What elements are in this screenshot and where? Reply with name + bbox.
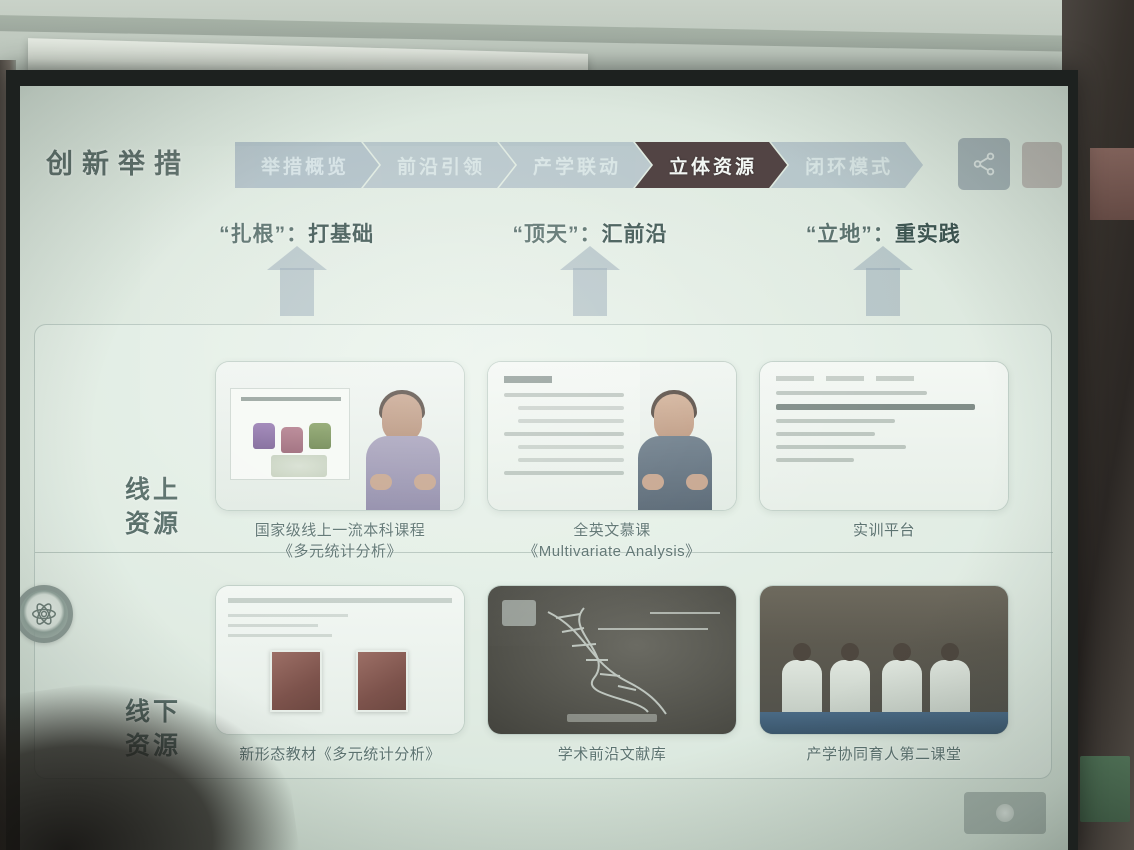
document-tabs [776,376,992,381]
row-label-offline-line1: 线下 [93,695,213,729]
document-line [776,445,906,449]
dna-helix-thumbnail [488,586,736,734]
share-icon[interactable] [958,138,1010,190]
row-label-offline-line2: 资源 [93,729,213,763]
video-lecture-thumbnail [488,362,736,510]
decorative-shape [281,427,303,453]
column-heading-sky: “顶天”：汇前沿 [443,218,736,248]
instructor-arm-left [642,474,664,490]
card-thumbnail [759,361,1009,511]
up-arrow-icon [573,268,607,316]
column-goal-roots: 打基础 [308,223,374,246]
presentation-slide: 创新举措 举措概览 前沿引领 产学联动 立体资源 闭环模式 [20,86,1068,850]
document-line [776,432,875,436]
slide-preview-title [241,397,341,401]
student-figure [830,660,870,716]
arrow-cell-ground [737,268,1030,316]
document-screenshot-thumbnail [760,362,1008,510]
document-tab [876,376,914,381]
card-caption-line1: 国家级线上一流本科课程 [255,522,426,539]
up-arrow-icon [280,268,314,316]
card-caption-line1: 产学协同育人第二课堂 [806,746,961,763]
card-thumbnail [487,361,737,511]
column-headings: “扎根”：打基础 “顶天”：汇前沿 “立地”：重实践 [150,218,1030,248]
workbench [760,712,1008,734]
chevron-nav: 举措概览 前沿引领 产学联动 立体资源 闭环模式 [235,142,907,188]
row-label-online-line1: 线上 [93,473,213,507]
textbook-thumbnail [216,586,464,734]
card-second-classroom[interactable]: 产学协同育人第二课堂 [759,585,1009,765]
card-caption-line1: 实训平台 [853,522,915,539]
textbook-cover [270,650,322,712]
card-new-textbook[interactable]: 新形态教材《多元统计分析》 [215,585,465,765]
upward-arrows [150,268,1030,316]
column-sep-roots: ： [286,223,308,246]
card-caption: 全英文慕课 《Multivariate Analysis》 [487,520,737,562]
card-thumbnail [215,585,465,735]
row-label-online-line2: 资源 [93,507,213,541]
right-wall-panel [1090,148,1134,220]
instructor-arm-right [414,474,436,490]
outline-line [504,471,624,475]
tab-frontier[interactable]: 前沿引领 [363,142,515,188]
column-goal-sky: 汇前沿 [601,223,667,246]
column-quote-ground: “立地” [806,223,873,246]
outline-line [518,445,624,449]
outline-line [518,419,624,423]
secondary-panel-edge [1022,142,1062,188]
document-tab [826,376,864,381]
instructor-head [654,394,694,442]
card-caption: 新形态教材《多元统计分析》 [215,744,465,765]
factory-visit-photo-thumbnail [760,586,1008,734]
card-caption-line2: 《Multivariate Analysis》 [487,541,737,562]
card-caption-line2: 《多元统计分析》 [215,541,465,562]
dna-thumbnail-caption [567,714,657,722]
tab-overview[interactable]: 举措概览 [235,142,379,188]
outline-heading [504,376,552,383]
up-arrow-icon [866,268,900,316]
card-caption-line1: 新形态教材《多元统计分析》 [239,746,441,763]
outline-line [518,458,624,462]
corner-dot-icon[interactable] [964,792,1046,834]
instructor-arm-left [370,474,392,490]
dna-helix-icon [488,586,737,735]
card-caption: 产学协同育人第二课堂 [759,744,1009,765]
document-line [776,458,854,462]
instructor-arm-right [686,474,708,490]
decorative-shape [309,423,331,449]
card-caption: 学术前沿文献库 [487,744,737,765]
slide-preview-caption [271,455,327,477]
card-caption: 实训平台 [759,520,1009,541]
textbook-line [228,624,318,627]
student-figure [882,660,922,716]
page-title: 创新举措 [46,142,190,181]
card-caption: 国家级线上一流本科课程 《多元统计分析》 [215,520,465,562]
card-thumbnail [215,361,465,511]
row-label-offline: 线下 资源 [93,695,213,763]
card-thumbnail [487,585,737,735]
column-sep-ground: ： [873,223,895,246]
column-quote-roots: “扎根” [219,223,286,246]
projector-screen-frame: 创新举措 举措概览 前沿引领 产学联动 立体资源 闭环模式 [6,70,1078,850]
card-training-platform[interactable]: 实训平台 [759,361,1009,541]
textbook-cover [356,650,408,712]
card-thumbnail [759,585,1009,735]
atom-badge-icon [20,585,73,643]
slide-preview [230,388,350,480]
column-goal-ground: 重实践 [895,223,961,246]
tab-closed-loop[interactable]: 闭环模式 [771,142,923,188]
resource-matrix: 线上 资源 线下 资源 [34,324,1052,779]
corner-dot-glyph [996,804,1014,822]
document-line-highlighted [776,404,975,410]
document-tab [776,376,814,381]
textbook-line [228,634,332,637]
document-line [776,419,895,423]
outline-line [518,406,624,410]
textbook-line [228,614,348,617]
student-figure [782,660,822,716]
arrow-cell-sky [443,268,736,316]
tab-stereoscopic-resources[interactable]: 立体资源 [635,142,787,188]
column-quote-sky: “顶天” [512,223,579,246]
instructor-figure [366,390,440,510]
right-wall-sign [1080,756,1130,822]
column-heading-roots: “扎根”：打基础 [150,218,443,248]
arrow-cell-roots [150,268,443,316]
card-english-mooc[interactable]: 全英文慕课 《Multivariate Analysis》 [487,361,737,562]
card-literature-database[interactable]: 学术前沿文献库 [487,585,737,765]
row-label-online: 线上 资源 [93,473,213,541]
outline-slide-preview [488,362,640,510]
document-line [776,391,927,395]
column-heading-ground: “立地”：重实践 [737,218,1030,248]
outline-line [504,393,624,397]
student-figure [930,660,970,716]
card-caption-line1: 全英文慕课 [573,522,651,539]
instructor-body [638,436,712,510]
textbook-header-bar [228,598,452,603]
card-national-mooc[interactable]: 国家级线上一流本科课程 《多元统计分析》 [215,361,465,562]
instructor-head [382,394,422,442]
room-photograph: 创新举措 举措概览 前沿引领 产学联动 立体资源 闭环模式 [0,0,1134,850]
projector-screen: 创新举措 举措概览 前沿引领 产学联动 立体资源 闭环模式 [20,86,1068,850]
decorative-shape [253,423,275,449]
instructor-figure [638,390,712,510]
card-caption-line1: 学术前沿文献库 [558,746,667,763]
outline-line [504,432,624,436]
column-sep-sky: ： [579,223,601,246]
tab-industry-academia[interactable]: 产学联动 [499,142,651,188]
video-lecture-thumbnail [216,362,464,510]
instructor-body [366,436,440,510]
